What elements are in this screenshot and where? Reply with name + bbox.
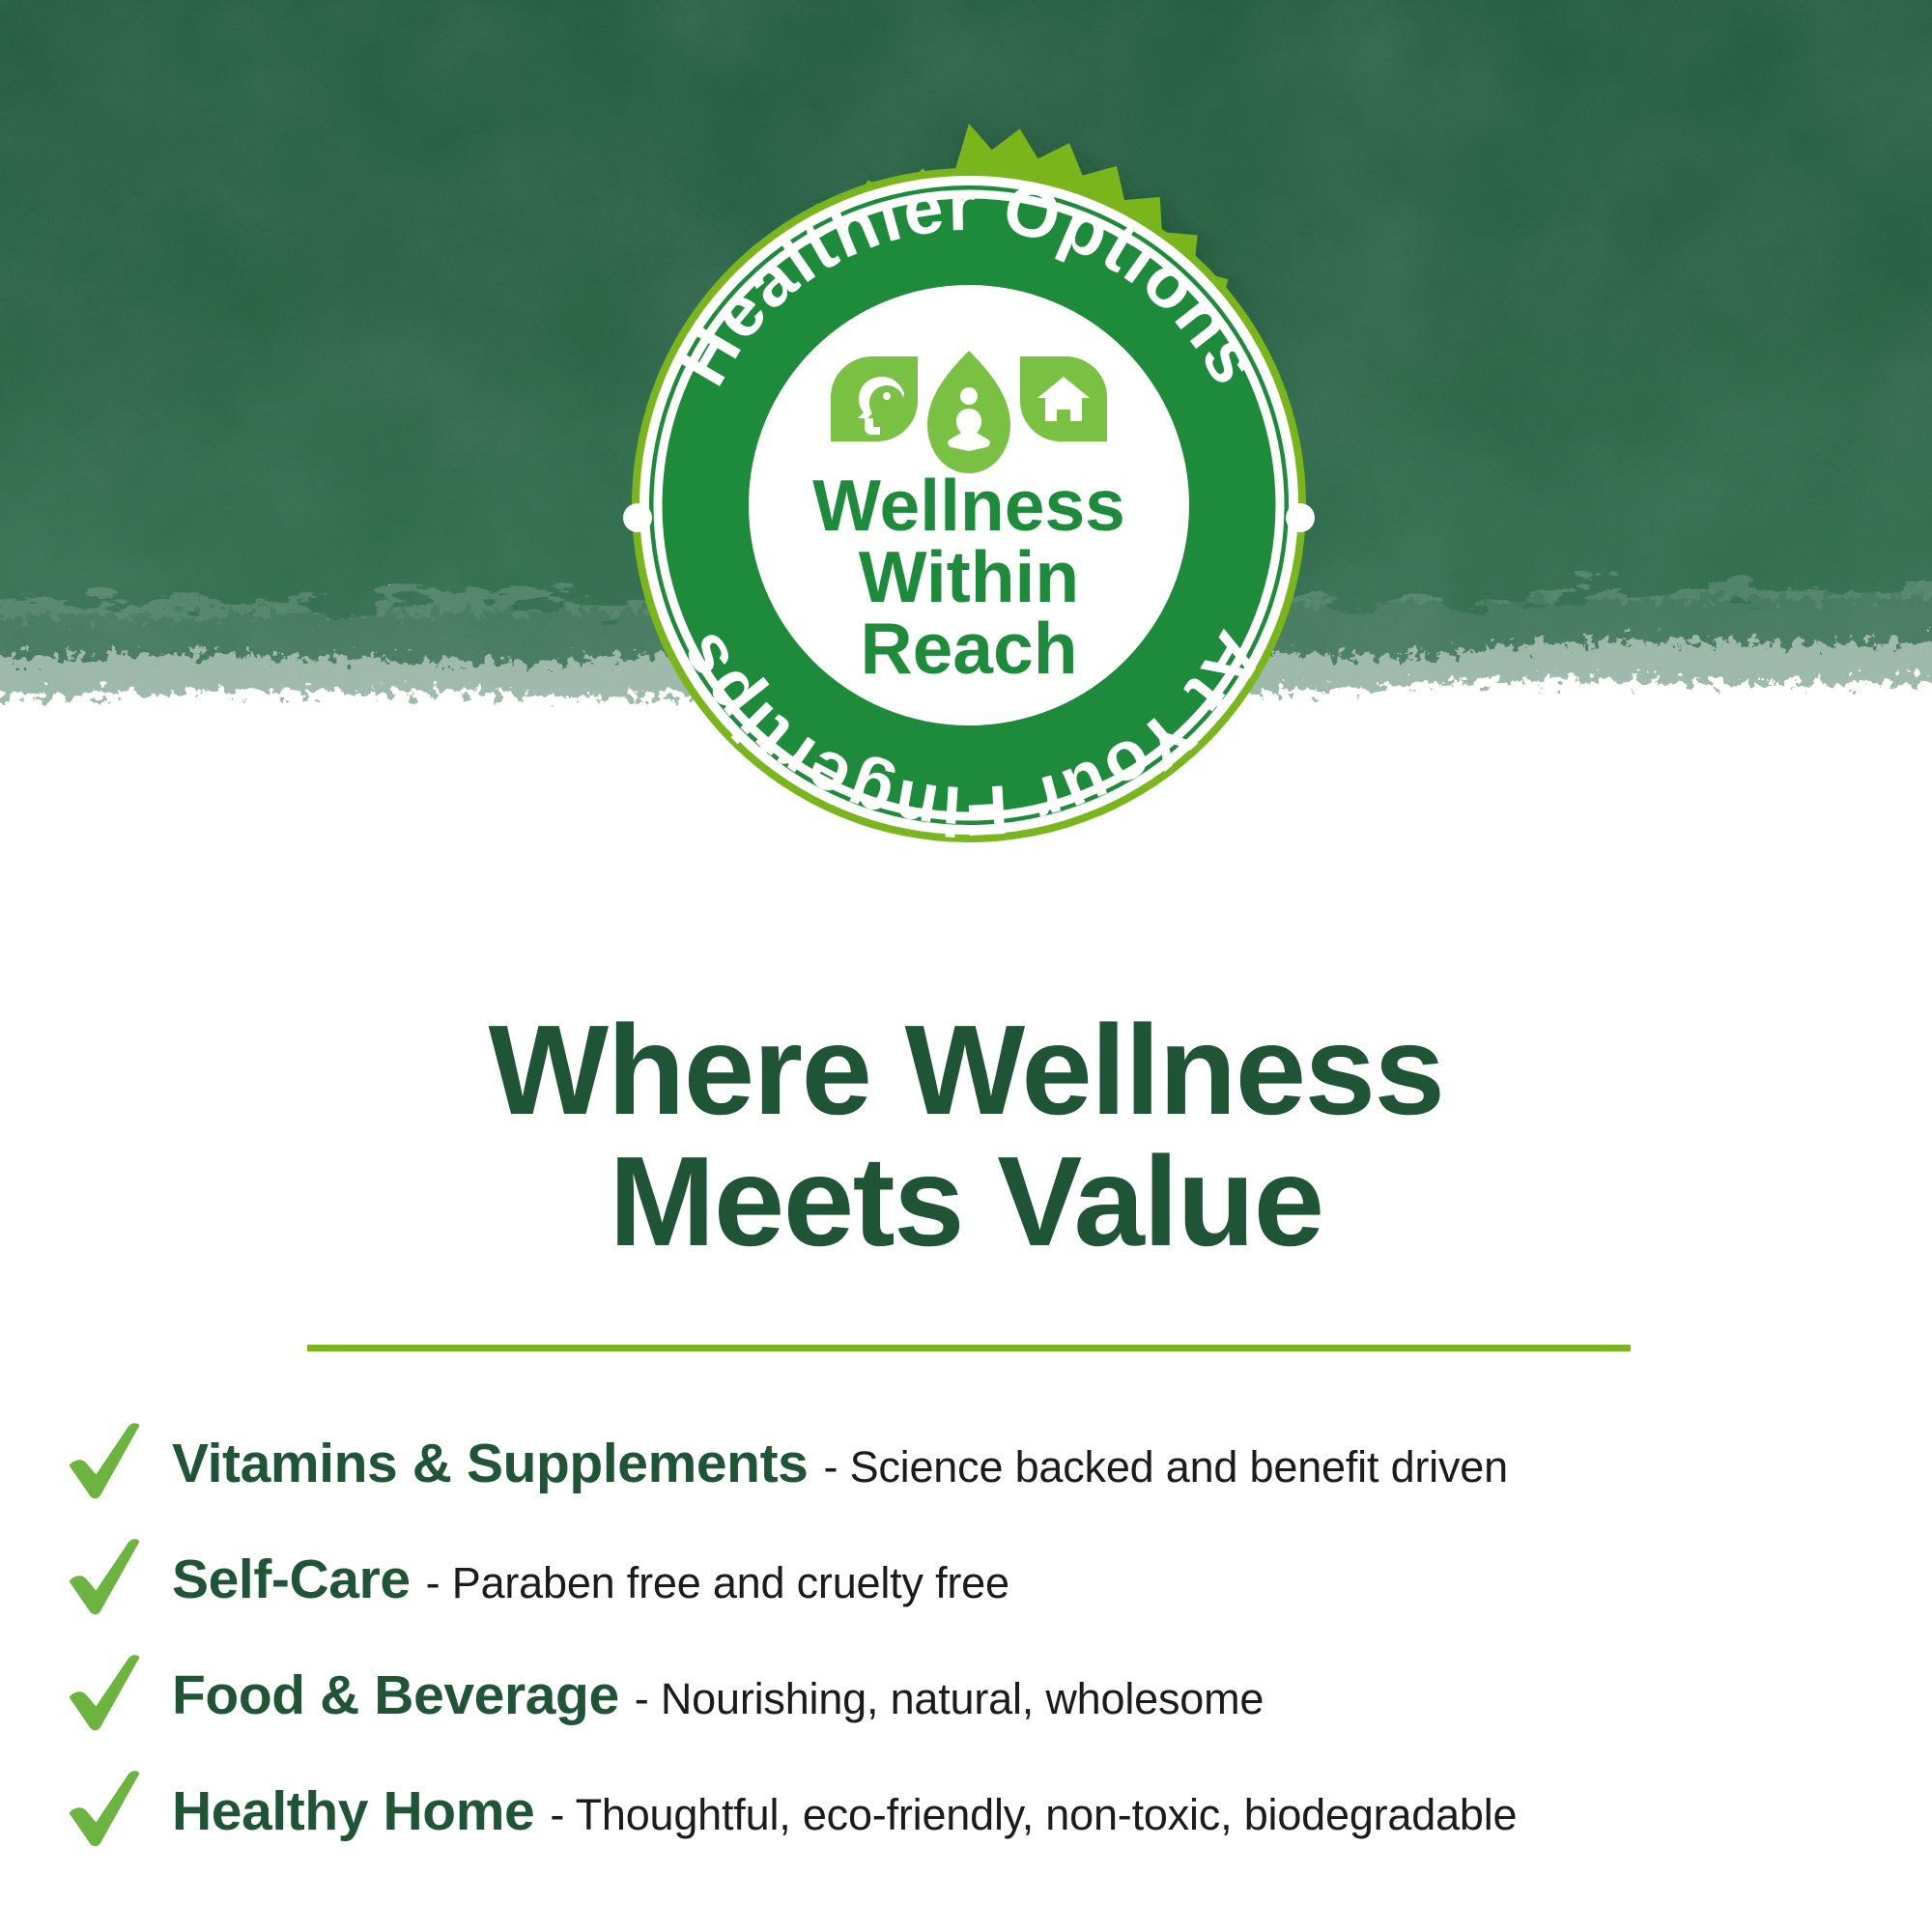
badge-center-line-2: Within <box>859 536 1079 617</box>
home-leaf-icon <box>1020 356 1107 441</box>
list-item: Vitamins & Supplements - Science backed … <box>58 1406 1893 1521</box>
headline-line-1: Where Wellness <box>0 1005 1932 1136</box>
feature-list: Vitamins & Supplements - Science backed … <box>58 1406 1893 1869</box>
check-icon <box>58 1649 151 1742</box>
list-item: Food & Beverage - Nourishing, natural, w… <box>58 1637 1893 1753</box>
feature-description: - Nourishing, natural, wholesome <box>635 1674 1264 1724</box>
wellness-badge: Healthier Options At Your Fingertips <box>578 114 1360 896</box>
badge-dot-left <box>623 503 652 532</box>
page-title: Where Wellness Meets Value <box>0 1005 1932 1267</box>
feature-category: Vitamins & Supplements <box>172 1432 808 1495</box>
check-icon <box>58 1533 151 1626</box>
list-item: Healthy Home - Thoughtful, eco-friendly,… <box>58 1753 1893 1869</box>
head-leaf-icon <box>831 356 918 441</box>
poster-canvas: Healthier Options At Your Fingertips <box>0 0 1932 1932</box>
badge-graphic: Healthier Options At Your Fingertips <box>578 114 1360 896</box>
headline-line-2: Meets Value <box>0 1136 1932 1267</box>
check-icon <box>58 1417 151 1510</box>
badge-dot-right <box>1286 503 1315 532</box>
badge-center-line-3: Reach <box>860 608 1077 689</box>
headline-divider <box>307 1345 1631 1351</box>
badge-center-line-1: Wellness <box>812 465 1125 546</box>
feature-category: Self-Care <box>172 1548 411 1611</box>
feature-description: - Science backed and benefit driven <box>823 1442 1507 1492</box>
list-item: Self-Care - Paraben free and cruelty fre… <box>58 1521 1893 1637</box>
feature-category: Food & Beverage <box>172 1663 619 1727</box>
feature-description: - Paraben free and cruelty free <box>426 1558 1009 1608</box>
feature-description: - Thoughtful, eco-friendly, non-toxic, b… <box>550 1790 1517 1840</box>
check-icon <box>58 1765 151 1858</box>
feature-category: Healthy Home <box>172 1779 534 1843</box>
